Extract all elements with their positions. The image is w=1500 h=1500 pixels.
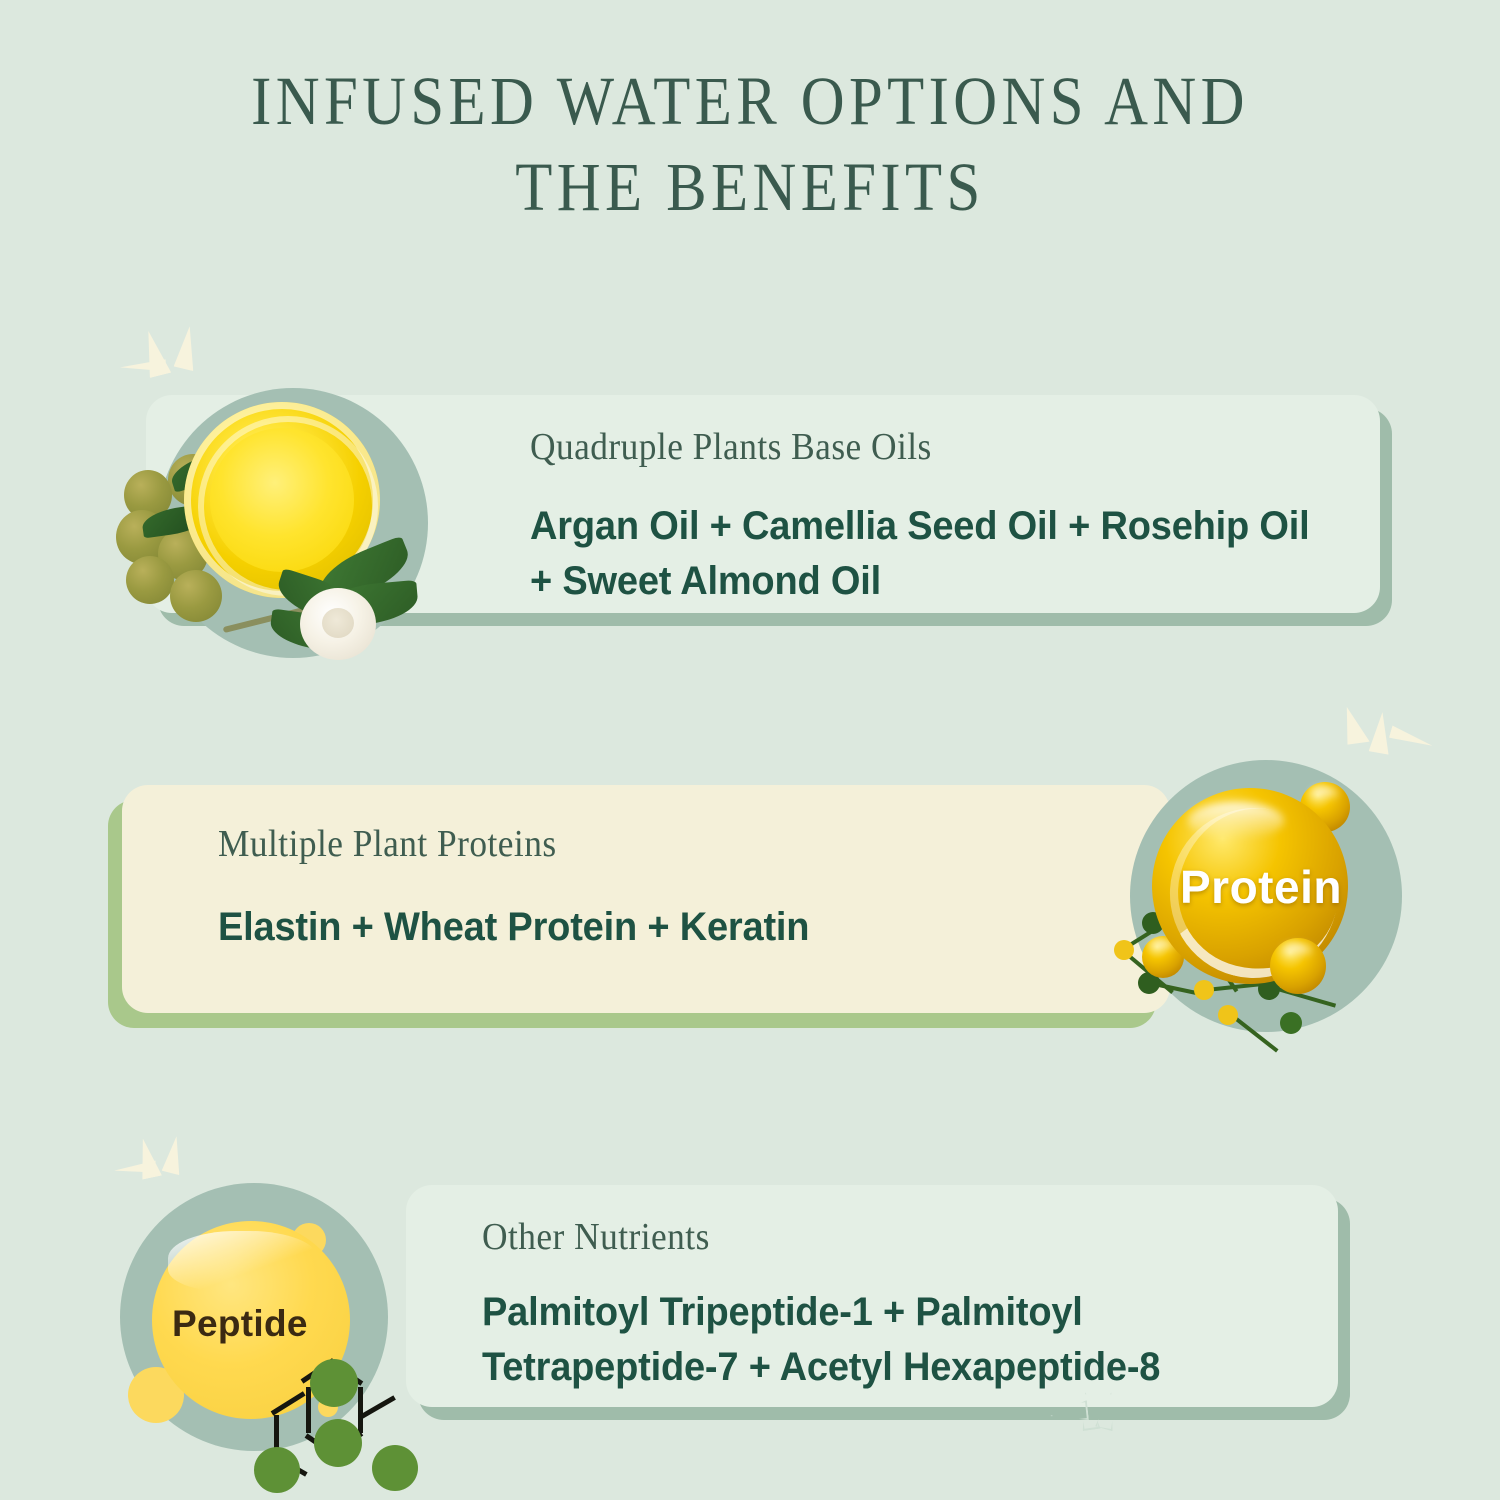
olive-oil-bowl-camellia-image	[110, 370, 510, 660]
page-title-line-2: THE BENEFITS	[90, 144, 1410, 230]
olive-fruit	[170, 570, 222, 622]
molecule-node	[310, 1359, 358, 1407]
other-nutrients-card-text: Other Nutrients Palmitoyl Tripeptide-1 +…	[482, 1215, 1282, 1395]
molecule-node	[1280, 1012, 1302, 1034]
molecule-bond	[306, 1387, 311, 1433]
plant-proteins-kicker: Multiple Plant Proteins	[218, 822, 1055, 866]
plant-proteins-card-text: Multiple Plant Proteins Elastin + Wheat …	[218, 822, 1118, 955]
base-oils-kicker: Quadruple Plants Base Oils	[530, 425, 1302, 469]
molecule-node	[314, 1419, 362, 1467]
molecule-bond	[359, 1395, 396, 1419]
base-oils-detail: Argan Oil + Camellia Seed Oil + Rosehip …	[530, 499, 1319, 609]
molecule-node	[372, 1445, 418, 1491]
molecule-node	[1114, 940, 1134, 960]
molecule-bond	[358, 1387, 363, 1433]
molecule-node	[1194, 980, 1214, 1000]
other-nutrients-kicker: Other Nutrients	[482, 1215, 1226, 1259]
peptide-sphere-molecule-image: Peptide	[110, 1175, 480, 1465]
molecule-node	[1218, 1005, 1238, 1025]
protein-sphere-molecule-image: Protein	[1110, 750, 1500, 1040]
gold-sphere-small	[1270, 938, 1326, 994]
camellia-flower-center	[322, 608, 354, 638]
page-title: INFUSED WATER OPTIONS AND THE BENEFITS	[0, 58, 1500, 230]
sparkle-icon-outline-bottom	[1050, 1390, 1120, 1440]
protein-label: Protein	[1180, 860, 1342, 914]
molecule-node	[254, 1447, 300, 1493]
plant-proteins-detail: Elastin + Wheat Protein + Keratin	[218, 900, 1073, 955]
oil-surface	[210, 428, 354, 572]
base-oils-card-text: Quadruple Plants Base Oils Argan Oil + C…	[530, 425, 1360, 609]
infographic-page: INFUSED WATER OPTIONS AND THE BENEFITS	[0, 0, 1500, 1500]
olive-fruit	[126, 556, 174, 604]
page-title-line-1: INFUSED WATER OPTIONS AND	[90, 58, 1410, 144]
peptide-label: Peptide	[172, 1303, 308, 1345]
other-nutrients-detail: Palmitoyl Tripeptide-1 + Palmitoyl Tetra…	[482, 1285, 1242, 1395]
